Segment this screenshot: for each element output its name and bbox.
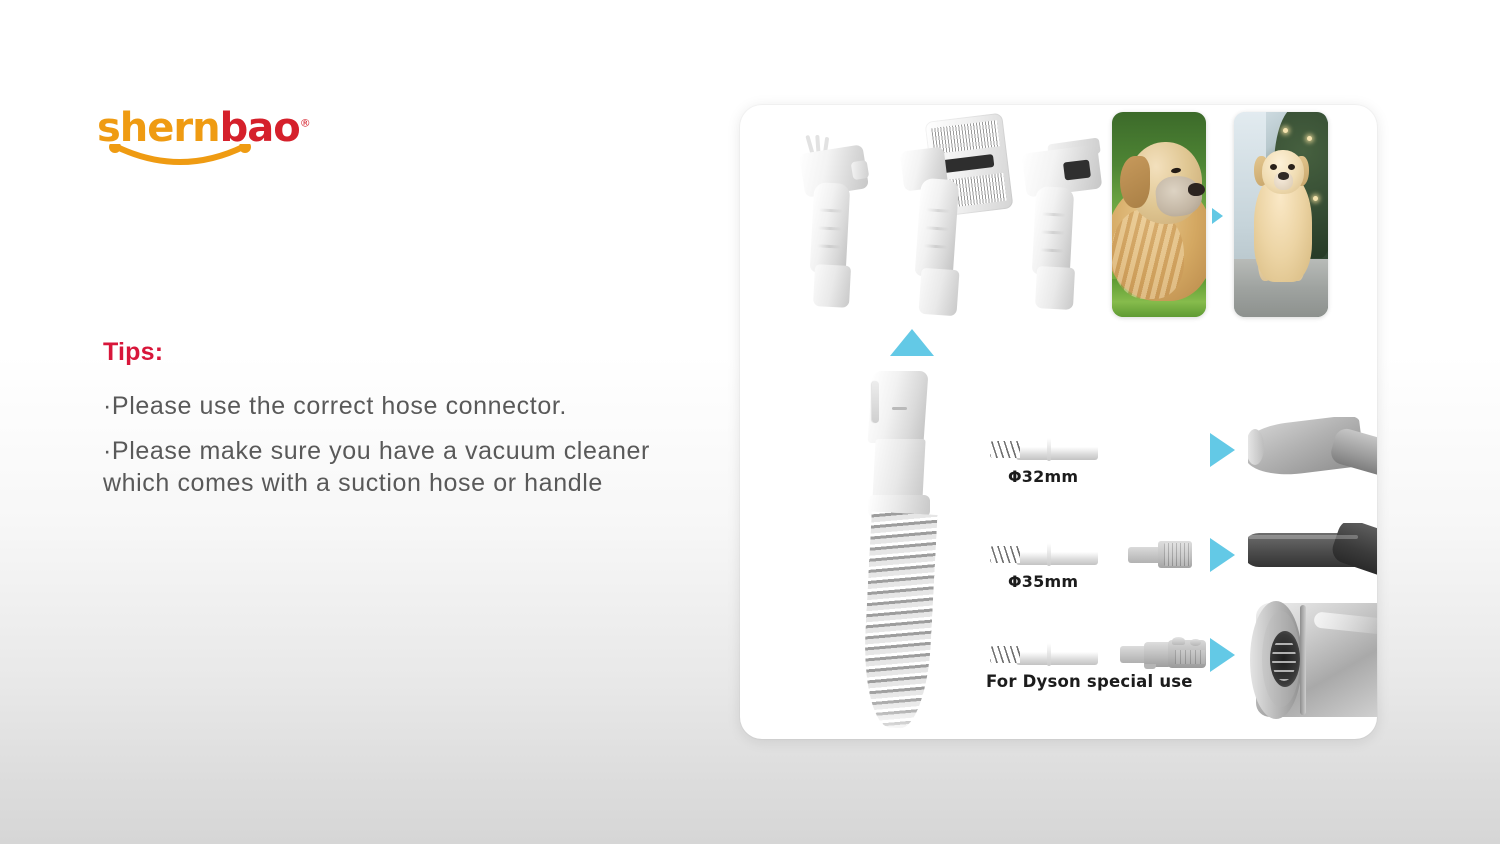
row-arrow-icon — [1210, 638, 1235, 672]
tip-line-2: ·Please make sure you have a vacuum clea… — [103, 435, 703, 500]
canister-spokes — [1272, 637, 1296, 681]
row-arrow-icon — [1210, 433, 1235, 467]
gray-vacuum-nozzle — [1248, 417, 1377, 481]
attachments-group — [790, 113, 1120, 323]
hose-latch — [872, 381, 879, 423]
connector-thread — [990, 441, 1020, 458]
attachment-grip — [1032, 186, 1075, 276]
nozzle-slot — [1063, 159, 1091, 180]
row-arrow-icon — [1210, 538, 1235, 572]
adapter-release-button — [1172, 637, 1185, 645]
hose-bend — [1329, 523, 1377, 579]
connector-step — [1047, 543, 1051, 566]
attachment-grip — [915, 178, 960, 278]
dog-photos-group — [1112, 112, 1332, 327]
connector-step — [1047, 643, 1051, 666]
connector-label-35mm: Φ35mm — [1008, 572, 1078, 591]
grip-ridge — [925, 226, 949, 231]
hose-groove — [892, 407, 907, 410]
dog-nose — [1188, 183, 1205, 196]
hose-neck — [872, 439, 925, 501]
attachment-base — [918, 268, 959, 317]
tip-line-1: ·Please use the correct hose connector. — [103, 390, 703, 423]
gray-ribbed-adapter — [1128, 541, 1192, 568]
attachment-base — [1035, 266, 1075, 310]
brand-logo: shernbao® — [97, 108, 297, 168]
grip-ridge — [818, 226, 841, 230]
registered-trademark-icon: ® — [300, 117, 310, 130]
up-arrow-icon — [890, 329, 934, 356]
dog-eye — [1270, 164, 1277, 170]
adapter-lug — [1144, 664, 1156, 669]
black-vacuum-hose — [1248, 523, 1377, 579]
dyson-adapter — [1120, 638, 1206, 670]
canister-band — [1300, 605, 1306, 715]
adapter-ribs — [1175, 650, 1205, 664]
tips-heading: Tips: — [103, 338, 163, 367]
dog-after-grooming-photo — [1234, 112, 1328, 317]
grip-ridge — [926, 208, 950, 213]
white-hose-connector — [990, 439, 1098, 460]
dog-eye — [1288, 164, 1295, 170]
grip-ridge — [1040, 248, 1064, 252]
adapter-body — [1128, 547, 1162, 563]
tips-body: ·Please use the correct hose connector. … — [103, 390, 703, 512]
connector-barrel — [1016, 544, 1098, 565]
tree-light-icon — [1313, 196, 1318, 201]
product-illustration-panel: Φ32mm Φ35mm — [740, 105, 1377, 739]
tree-light-icon — [1283, 128, 1288, 133]
smile-swoosh-icon — [105, 144, 255, 170]
connector-barrel — [1016, 439, 1098, 460]
panel-reflection: For Dyson special use — [740, 745, 1377, 844]
connector-label-dyson: For Dyson special use — [986, 672, 1193, 691]
adapter-ribs — [1164, 543, 1190, 566]
grip-ridge — [923, 244, 947, 249]
connector-label-32mm: Φ32mm — [1008, 467, 1078, 486]
dog-nose — [1278, 172, 1289, 180]
comb-slot — [942, 154, 995, 173]
dog-ear — [1120, 156, 1150, 208]
brand-logo-text: shernbao® — [97, 108, 297, 148]
slicker-brush-attachment — [894, 113, 1014, 323]
attachment-grip — [810, 182, 851, 274]
grip-ridge — [819, 208, 842, 212]
grip-ridge — [1041, 230, 1065, 234]
grip-ridge — [817, 244, 840, 248]
dog-before-grooming-photo — [1112, 112, 1206, 317]
coiled-suction-hose — [852, 371, 962, 731]
before-after-arrow-icon — [1212, 208, 1223, 224]
hose-highlight — [1248, 535, 1358, 539]
dyson-canister — [1240, 599, 1377, 721]
connector-thread — [990, 646, 1020, 663]
tree-light-icon — [1307, 136, 1312, 141]
connector-step — [1047, 438, 1051, 461]
connector-thread — [990, 546, 1020, 563]
grip-ridge — [1042, 212, 1066, 216]
nozzle-tube — [1328, 426, 1377, 480]
white-hose-connector — [990, 644, 1098, 665]
attachment-base — [813, 264, 851, 308]
connector-barrel — [1016, 644, 1098, 665]
wide-nozzle-attachment — [1016, 137, 1120, 323]
white-hose-connector — [990, 544, 1098, 565]
narrow-nozzle-attachment — [790, 135, 890, 323]
adapter-release-button — [1190, 639, 1201, 646]
hose-coil — [860, 511, 937, 729]
attachment-lip — [851, 160, 870, 180]
